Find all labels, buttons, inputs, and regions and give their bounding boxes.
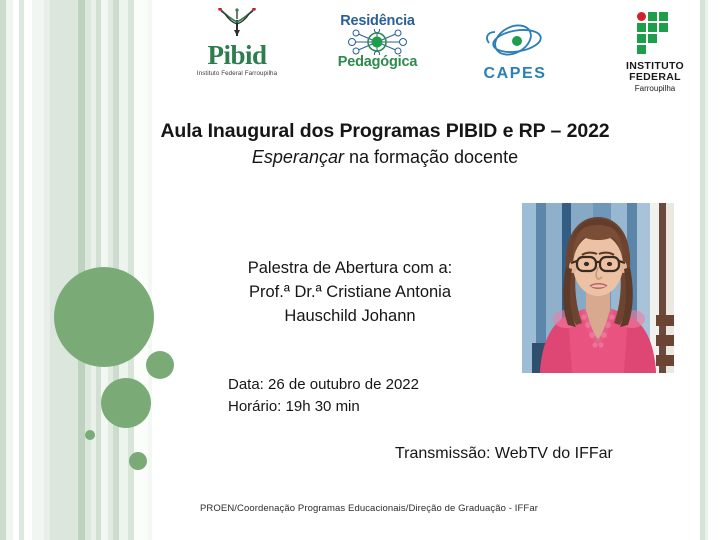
speaker-name-line1: Prof.ª Dr.ª Cristiane Antonia — [200, 280, 500, 304]
stripe — [24, 0, 32, 540]
presentation-slide: Pibid Instituto Federal Farroupilha Resi… — [0, 0, 720, 540]
subtitle-emphasis: Esperançar — [252, 147, 344, 167]
event-date: Data: 26 de outubro de 2022 — [228, 374, 419, 396]
speaker-block: Palestra de Abertura com a: Prof.ª Dr.ª … — [200, 256, 500, 328]
capes-ellipse-icon — [465, 24, 565, 65]
decorative-circle-large — [54, 267, 154, 367]
instituto-federal-line3: Farroupilha — [600, 83, 710, 94]
decorative-circle-tiny — [129, 452, 147, 470]
pencil-plant-icon — [172, 8, 302, 42]
instituto-federal-line1: INSTITUTO — [600, 61, 710, 72]
pedagogica-wordmark: Pedagógica — [320, 55, 435, 70]
capes-wordmark: CAPES — [465, 65, 565, 82]
pibid-wordmark: Pibid — [172, 42, 302, 69]
slide-title: Aula Inaugural dos Programas PIBID e RP … — [150, 120, 620, 143]
logo-instituto-federal: INSTITUTO FEDERAL Farroupilha — [600, 8, 710, 94]
speaker-intro-line: Palestra de Abertura com a: — [200, 256, 500, 280]
instituto-federal-line2: FEDERAL — [600, 72, 710, 83]
datetime-block: Data: 26 de outubro de 2022 Horário: 19h… — [228, 374, 419, 418]
speaker-photo — [522, 203, 674, 373]
decorative-circle-dot — [85, 430, 95, 440]
logo-row: Pibid Instituto Federal Farroupilha Resi… — [160, 4, 710, 96]
decorative-circle-medium — [101, 378, 151, 428]
logo-capes: CAPES — [465, 24, 565, 82]
stripe — [148, 0, 152, 540]
logo-residencia-pedagogica: Residência — [320, 14, 435, 70]
stripe — [6, 0, 13, 540]
slide-footer: PROEN/Coordenação Programas Educacionais… — [200, 503, 538, 514]
network-node-icon — [320, 29, 435, 55]
if-pixel-grid-icon — [600, 8, 710, 61]
decorative-circle-small — [146, 351, 174, 379]
speaker-name-line2: Hauschild Johann — [200, 304, 500, 328]
subtitle-rest: na formação docente — [344, 147, 518, 167]
slide-subtitle: Esperançar na formação docente — [150, 147, 620, 168]
stripe — [32, 0, 44, 540]
logo-pibid: Pibid Instituto Federal Farroupilha — [172, 8, 302, 77]
stripe — [50, 0, 78, 540]
residencia-wordmark: Residência — [320, 14, 435, 29]
broadcast-info: Transmissão: WebTV do IFFar — [395, 445, 613, 463]
pibid-subtitle: Instituto Federal Farroupilha — [172, 70, 302, 77]
event-time: Horário: 19h 30 min — [228, 396, 419, 418]
